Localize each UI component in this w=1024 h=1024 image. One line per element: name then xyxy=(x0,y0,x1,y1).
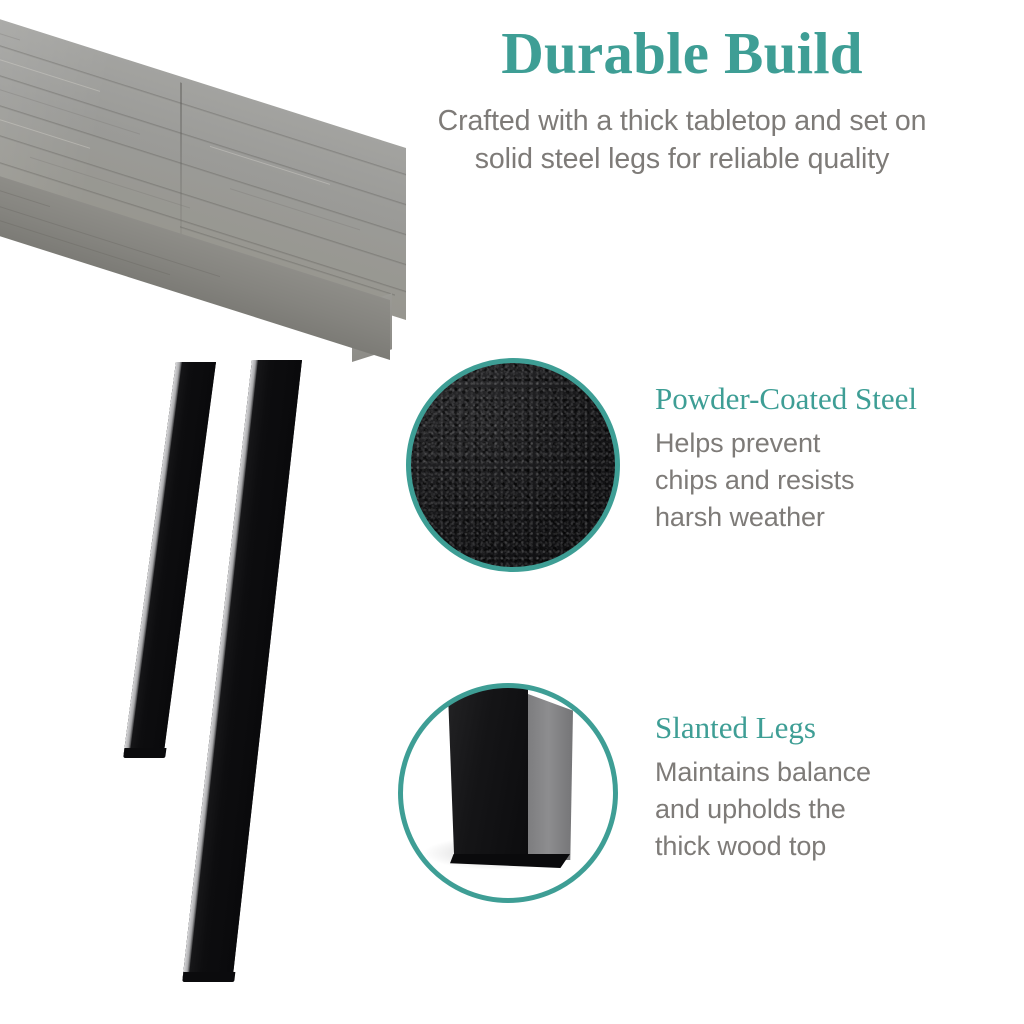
page-subtitle: Crafted with a thick tabletop and set on… xyxy=(340,103,1024,179)
callout-body: Helps prevent chips and resists harsh we… xyxy=(655,425,1020,536)
callout-body-line: harsh weather xyxy=(655,499,1020,536)
callout-ring xyxy=(406,358,620,572)
callout-text-block: Powder-Coated Steel Helps prevent chips … xyxy=(655,383,1020,536)
leg-foot xyxy=(182,972,235,982)
table-leg-rear xyxy=(124,362,216,754)
leg-foot xyxy=(123,748,166,758)
tabletop-plank-groove xyxy=(0,28,406,206)
header: Durable Build Crafted with a thick table… xyxy=(340,24,1024,179)
tabletop-plank-groove xyxy=(0,0,406,176)
wood-grain xyxy=(230,188,360,230)
product-photo-table xyxy=(0,0,430,1024)
subtitle-line-1: Crafted with a thick tabletop and set on xyxy=(340,103,1024,141)
callout-body-line: and upholds the xyxy=(655,791,1020,828)
subtitle-line-2: solid steel legs for reliable quality xyxy=(340,141,1024,179)
infographic-canvas: Durable Build Crafted with a thick table… xyxy=(0,0,1024,1024)
callout-body-line: Maintains balance xyxy=(655,754,1020,791)
page-title: Durable Build xyxy=(340,24,1024,83)
callout-ring xyxy=(398,683,618,903)
callout-body-line: thick wood top xyxy=(655,828,1020,865)
callout-text-block: Slanted Legs Maintains balance and uphol… xyxy=(655,712,1020,865)
callout-title: Powder-Coated Steel xyxy=(655,383,1020,416)
callout-body: Maintains balance and upholds the thick … xyxy=(655,754,1020,865)
callout-title: Slanted Legs xyxy=(655,712,1020,745)
callout-body-line: chips and resists xyxy=(655,462,1020,499)
callout-body-line: Helps prevent xyxy=(655,425,1020,462)
wood-grain xyxy=(0,0,20,41)
tabletop-frame-rail xyxy=(180,82,182,243)
